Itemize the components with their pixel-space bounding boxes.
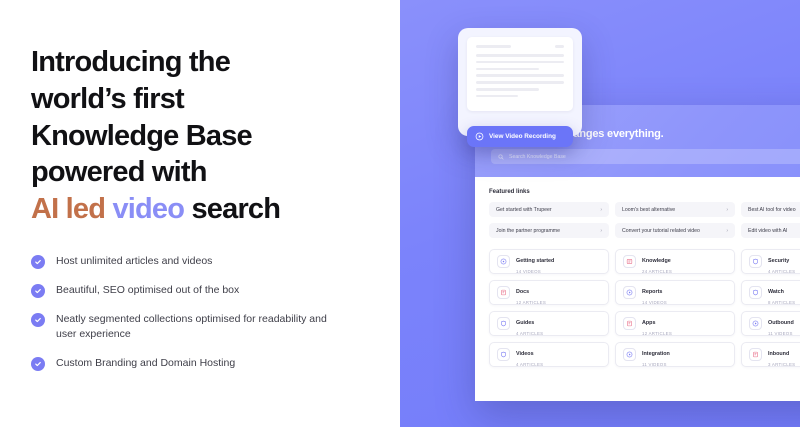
doc-placeholder-line: [476, 74, 564, 77]
collection-card[interactable]: Watch8 ARTICLES: [741, 280, 800, 305]
headline-line-3: Knowledge Base: [31, 118, 361, 155]
hero-left-column: Introducing the world’s first Knowledge …: [0, 0, 400, 427]
collection-card[interactable]: Getting started14 VIDEOS: [489, 249, 609, 274]
knowledge-base-body: Featured links Get started with Trupeer›…: [475, 177, 800, 401]
list-item: Beautiful, SEO optimised out of the box: [31, 283, 331, 298]
search-icon: [498, 154, 504, 160]
collection-card-subtitle: 14 VIDEOS: [642, 300, 667, 305]
video-preview-card: View Video Recording: [458, 28, 582, 136]
headline-line-4: powered with: [31, 154, 361, 191]
list-item-label: Host unlimited articles and videos: [56, 254, 212, 269]
collection-card-title: Integration: [642, 351, 670, 357]
collection-card-subtitle: 4 ARTICLES: [516, 362, 543, 367]
marketing-hero-page: Introducing the world’s first Knowledge …: [0, 0, 800, 427]
collection-card[interactable]: Knowledge24 ARTICLES: [615, 249, 735, 274]
collection-card[interactable]: Security4 ARTICLES: [741, 249, 800, 274]
page-title: Introducing the world’s first Knowledge …: [31, 44, 361, 228]
check-circle-icon: [31, 313, 45, 327]
knowledge-base-panel: Knowledge Base Great service changes eve…: [475, 105, 800, 401]
collection-card-title: Security: [768, 258, 789, 264]
headline-line-5: AI led video search: [31, 191, 361, 228]
doc-placeholder-line: [476, 88, 539, 91]
collection-card-subtitle: 24 ARTICLES: [642, 269, 672, 274]
shield-icon: [497, 348, 510, 361]
featured-link[interactable]: Edit video with AI›: [741, 223, 800, 238]
collection-card[interactable]: Apps12 ARTICLES: [615, 311, 735, 336]
check-circle-icon: [31, 284, 45, 298]
featured-links-grid: Get started with Trupeer› Loom's best al…: [489, 202, 800, 238]
headline-line-1: Introducing the: [31, 44, 361, 81]
collection-card-title: Inbound: [768, 351, 789, 357]
document-preview-mock: [467, 37, 573, 111]
list-item: Host unlimited articles and videos: [31, 254, 331, 269]
collection-card-title: Guides: [516, 320, 534, 326]
collection-card-subtitle: 11 VIDEOS: [768, 331, 794, 336]
chevron-right-icon: ›: [726, 228, 728, 234]
document-icon: [749, 348, 762, 361]
collection-card-subtitle: 8 ARTICLES: [768, 300, 795, 305]
featured-link-label: Join the partner programme: [496, 228, 560, 234]
collection-card[interactable]: Inbound3 ARTICLES: [741, 342, 800, 367]
collection-card-subtitle: 4 ARTICLES: [516, 331, 543, 336]
document-icon: [497, 286, 510, 299]
doc-placeholder-line: [476, 95, 518, 98]
collection-card-title: Outbound: [768, 320, 794, 326]
featured-link[interactable]: Loom's best alternative›: [615, 202, 735, 217]
shield-icon: [749, 286, 762, 299]
play-circle-icon: [475, 128, 484, 146]
chevron-right-icon: ›: [600, 207, 602, 213]
check-circle-icon: [31, 255, 45, 269]
collection-card[interactable]: Outbound11 VIDEOS: [741, 311, 800, 336]
collection-card[interactable]: Integration11 VIDEOS: [615, 342, 735, 367]
collection-cards-grid: Getting started14 VIDEOS Knowledge24 ART…: [489, 249, 800, 367]
search-placeholder: Search Knowledge Base: [509, 154, 566, 160]
list-item-label: Beautiful, SEO optimised out of the box: [56, 283, 239, 298]
check-circle-icon: [31, 357, 45, 371]
shield-icon: [749, 255, 762, 268]
collection-card-title: Docs: [516, 289, 529, 295]
doc-placeholder-line: [476, 68, 539, 71]
doc-placeholder-line: [476, 81, 564, 84]
doc-placeholder-badge: [555, 45, 564, 48]
feature-bullet-list: Host unlimited articles and videos Beaut…: [31, 254, 400, 371]
list-item: Neatly segmented collections optimised f…: [31, 312, 331, 342]
shield-icon: [497, 317, 510, 330]
collection-card-subtitle: 12 ARTICLES: [516, 300, 546, 305]
collection-card-title: Reports: [642, 289, 662, 295]
collection-card-title: Videos: [516, 351, 534, 357]
doc-placeholder-line: [476, 45, 511, 48]
collection-card-subtitle: 4 ARTICLES: [768, 269, 795, 274]
chevron-right-icon: ›: [600, 228, 602, 234]
doc-placeholder-line: [476, 54, 564, 57]
featured-link-label: Get started with Trupeer: [496, 207, 552, 213]
featured-link[interactable]: Get started with Trupeer›: [489, 202, 609, 217]
play-circle-icon: [749, 317, 762, 330]
hero-right-column: Knowledge Base Great service changes eve…: [400, 0, 800, 427]
featured-link[interactable]: Best AI tool for video›: [741, 202, 800, 217]
featured-link[interactable]: Convert your tutorial related video›: [615, 223, 735, 238]
collection-card-subtitle: 3 ARTICLES: [768, 362, 795, 367]
collection-card[interactable]: Docs12 ARTICLES: [489, 280, 609, 305]
play-circle-icon: [623, 286, 636, 299]
headline-accent-video: video: [112, 193, 184, 225]
collection-card-title: Getting started: [516, 258, 554, 264]
list-item: Custom Branding and Domain Hosting: [31, 356, 331, 371]
featured-link[interactable]: Join the partner programme›: [489, 223, 609, 238]
view-video-recording-label: View Video Recording: [489, 133, 556, 140]
headline-accent-search: search: [191, 193, 280, 225]
collection-card[interactable]: Videos4 ARTICLES: [489, 342, 609, 367]
document-icon: [623, 317, 636, 330]
collection-card[interactable]: Reports14 VIDEOS: [615, 280, 735, 305]
collection-card-subtitle: 12 ARTICLES: [642, 331, 672, 336]
collection-card-subtitle: 14 VIDEOS: [516, 269, 554, 274]
collection-card-subtitle: 11 VIDEOS: [642, 362, 670, 367]
collection-card-title: Watch: [768, 289, 784, 295]
list-item-label: Neatly segmented collections optimised f…: [56, 312, 331, 342]
featured-link-label: Loom's best alternative: [622, 207, 675, 213]
search-input[interactable]: Search Knowledge Base: [491, 149, 800, 164]
collection-card-title: Apps: [642, 320, 655, 326]
book-icon: [623, 255, 636, 268]
headline-line-2: world’s first: [31, 81, 361, 118]
headline-accent-ai: AI led: [31, 193, 105, 225]
play-circle-icon: [623, 348, 636, 361]
collection-card[interactable]: Guides4 ARTICLES: [489, 311, 609, 336]
collection-card-title: Knowledge: [642, 258, 671, 264]
featured-links-heading: Featured links: [489, 189, 800, 195]
list-item-label: Custom Branding and Domain Hosting: [56, 356, 235, 371]
compass-icon: [497, 255, 510, 268]
featured-link-label: Edit video with AI: [748, 228, 788, 234]
chevron-right-icon: ›: [726, 207, 728, 213]
view-video-recording-button[interactable]: View Video Recording: [467, 126, 573, 147]
doc-placeholder-line: [476, 61, 564, 64]
featured-link-label: Best AI tool for video: [748, 207, 796, 213]
featured-link-label: Convert your tutorial related video: [622, 228, 700, 234]
